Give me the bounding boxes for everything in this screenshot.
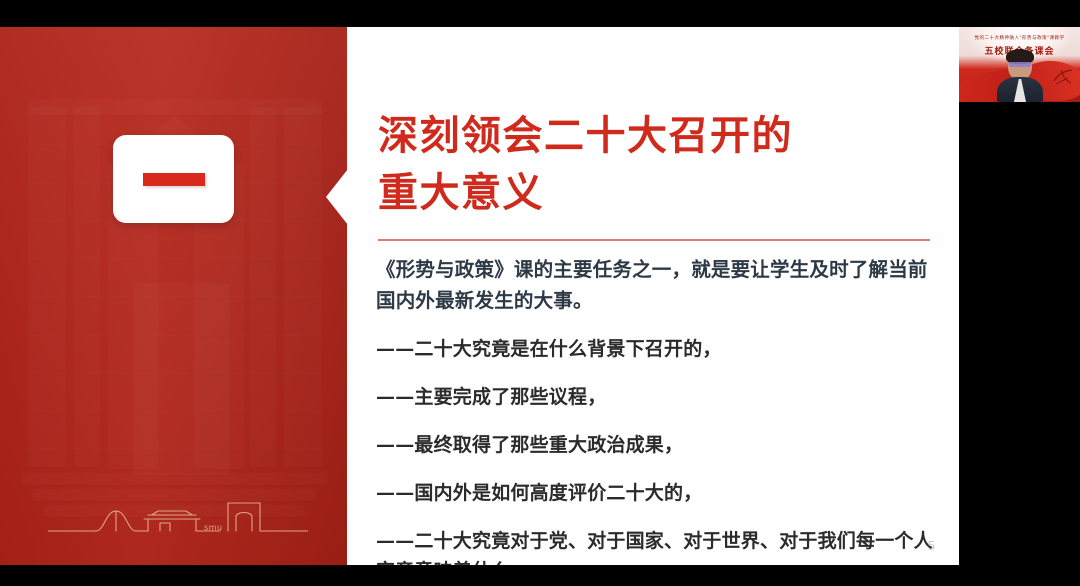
- video-banner-subtitle: 党的二十大精神融入"形势与政策"课教学: [967, 35, 1072, 41]
- numeral-one-icon: [143, 173, 205, 186]
- slide-title: 深刻领会二十大召开的 重大意义: [378, 108, 958, 222]
- bullet-item: ——国内外是如何高度评价二十大的，: [376, 469, 946, 517]
- title-divider-rule: [378, 239, 930, 241]
- bullet-item: ——二十大究竟是在什么背景下召开的，: [376, 325, 946, 373]
- page-number: 5: [928, 538, 935, 553]
- section-number-badge: [113, 135, 234, 223]
- screen-root: smu 深刻领会二十大召开的 重大意义 《形势与政策》课的主要任务之一，就是要让…: [0, 0, 1080, 586]
- campus-skyline-icon: smu: [48, 489, 308, 539]
- bullet-item: ——最终取得了那些重大政治成果，: [376, 421, 946, 469]
- presenter-figure: [997, 51, 1043, 102]
- panel-notch-shape: [326, 169, 347, 225]
- calligraphy-emblem-icon: [1051, 67, 1075, 87]
- svg-text:smu: smu: [204, 523, 223, 532]
- presenter-video-overlay[interactable]: 党的二十大精神融入"形势与政策"课教学 五校联合备课会: [959, 27, 1080, 102]
- slide-canvas: smu 深刻领会二十大召开的 重大意义 《形势与政策》课的主要任务之一，就是要让…: [0, 27, 959, 565]
- bullet-item: ——主要完成了那些议程，: [376, 373, 946, 421]
- lead-paragraph: 《形势与政策》课的主要任务之一，就是要让学生及时了解当前国内外最新发生的大事。: [376, 255, 946, 317]
- bullet-item: ——二十大究竟对于党、对于国家、对于世界、对于我们每一个人究竟意味着什么。: [376, 517, 946, 565]
- left-red-panel: smu: [0, 27, 347, 565]
- glasses-icon: [1009, 62, 1031, 67]
- slide-content-column: 深刻领会二十大召开的 重大意义 《形势与政策》课的主要任务之一，就是要让学生及时…: [347, 27, 959, 565]
- slide-body: 《形势与政策》课的主要任务之一，就是要让学生及时了解当前国内外最新发生的大事。 …: [376, 255, 946, 565]
